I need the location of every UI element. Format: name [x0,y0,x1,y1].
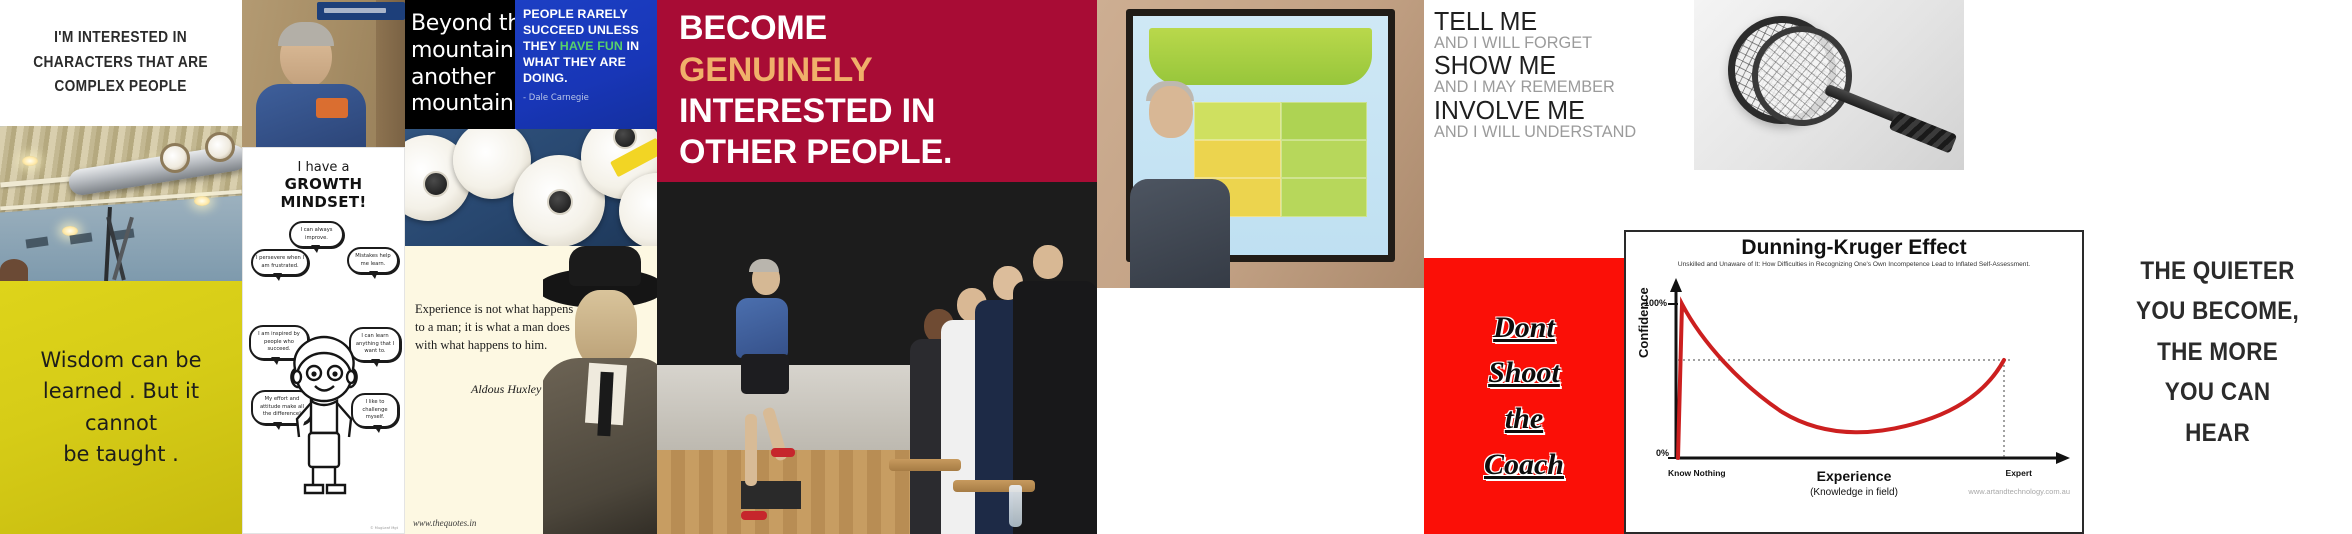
shuttle-cork [423,171,449,197]
wisdom-line-1: Wisdom can be [10,345,232,377]
growth-title-line-2: GROWTH MINDSET! [247,175,400,211]
chart-title: Dunning-Kruger Effect [1632,236,2076,259]
quieter-line-1: THE QUIETER [2136,251,2299,292]
growth-bubble: Mistakes help me learn. [347,247,399,274]
chart-plot-area: Confidence 100% 0% Know Nothing Expert E… [1632,272,2076,500]
panel-shuttlecocks-photo [405,129,657,246]
quieter-line-3: THE MORE [2136,332,2299,373]
coach-leg [745,414,757,486]
huxley-author: Aldous Huxley [471,382,541,397]
panel-sports-hall-photo [0,126,242,281]
tellme-line-6: AND I WILL UNDERSTAND [1434,123,1676,141]
slide-cell [1281,140,1367,178]
hat-crown [569,246,641,286]
chart-x-tick-right: Expert [2006,468,2032,478]
panel-characters-quote: I'M INTERESTED IN CHARACTERS THAT ARE CO… [0,0,242,126]
huxley-quote-text: Experience is not what happens to a man;… [415,301,575,354]
chart-svg [1632,272,2078,500]
image-collage: I'M INTERESTED IN CHARACTERS THAT ARE CO… [0,0,2352,534]
panel-become-interested-quote: BECOME GENUINELY INTERESTED IN OTHER PEO… [657,0,1097,182]
panel-coach-portrait-photo [242,0,405,147]
chart-curve [1678,304,2004,458]
characters-quote-text: I'M INTERESTED IN CHARACTERS THAT ARE CO… [27,26,215,100]
bench-seat [953,480,1035,492]
panel-wisdom-quote: Wisdom can be learned . But it cannot be… [0,281,242,534]
dontshoot-word-3: the [1484,396,1564,442]
quieter-line-5: HEAR [2136,413,2299,454]
shuttle-cork [547,189,573,215]
growth-kid-illustration [281,333,367,501]
player-head [1033,245,1063,279]
dontshoot-word-2: Shoot [1484,350,1564,396]
growth-bubble: I persevere when I am frustrated. [251,249,309,276]
characters-line-1: I'M INTERESTED IN [34,26,209,51]
chart-x-arrow [2056,452,2070,464]
coach-shoe [771,448,795,457]
panel-coach-presenting-photo [1097,0,1424,288]
growth-bubble-stage: I persevere when I am frustrated. I can … [247,215,400,515]
growth-title-line-1: I have a [247,160,400,175]
tellme-line-5: INVOLVE ME [1434,97,1676,123]
become-line-2: GENUINELY [679,50,952,91]
shirt-logo [316,98,348,118]
chart-y-tick-bottom: 0% [1656,448,1669,458]
coach-shirt [736,298,788,358]
water-bottle [1009,485,1022,527]
panel-dont-shoot-coach-quote: Dont Shoot the Coach [1424,258,1624,534]
panel-coach-squad-photo [657,182,1097,534]
quieter-line-2: YOU BECOME, [2136,291,2299,332]
tellme-line-3: SHOW ME [1434,52,1676,78]
coach-shorts [741,354,789,394]
person-head [0,259,28,281]
become-quote-text: BECOME GENUINELY INTERESTED IN OTHER PEO… [657,8,952,174]
panel-rackets-photo [1694,0,1964,170]
growth-credit: © MugLeaf Mgt [370,526,398,530]
wisdom-quote-text: Wisdom can be learned . But it cannot be… [0,345,242,471]
shuttlecock [205,132,235,162]
growth-bubble: I can always improve. [289,221,344,248]
dontshoot-text: Dont Shoot the Coach [1484,305,1564,487]
panel-dunning-kruger-chart: Dunning-Kruger Effect Unskilled and Unaw… [1624,230,2084,534]
chart-x-tick-left: Know Nothing [1668,468,1726,478]
chart-credit: www.artandtechnology.com.au [1968,487,2070,496]
chart-x-axis-label: Experience [1817,468,1892,484]
racket-grip [1889,110,1958,153]
slide-header-band [1149,28,1373,85]
coach-shoe [741,511,767,520]
characters-line-3: COMPLEX PEOPLE [34,75,209,100]
panel-carnegie-quote: PEOPLE RARELY SUCCEED UNLESS THEY HAVE F… [515,0,657,129]
chart-y-tick-top: 100% [1644,298,1667,308]
presenter-body [1130,179,1230,288]
slide-cell [1194,140,1280,178]
quieter-quote-text: THE QUIETER YOU BECOME, THE MORE YOU CAN… [2136,251,2299,454]
panel-tell-show-involve-quote: TELL ME AND I WILL FORGET SHOW ME AND I … [1424,0,1694,150]
shuttlecock [160,143,190,173]
become-line-3: INTERESTED IN [679,91,952,132]
chart-y-arrow [1670,278,1682,292]
panel-quieter-quote: THE QUIETER YOU BECOME, THE MORE YOU CAN… [2084,170,2352,534]
wisdom-line-2: learned . But it cannot [10,376,232,439]
chart-subtitle: Unskilled and Unaware of It: How Difficu… [1632,261,2076,270]
slide-cell [1194,102,1280,140]
carnegie-attribution: - Dale Carnegie [523,93,649,103]
presenter-head [1149,86,1193,138]
carnegie-quote-text: PEOPLE RARELY SUCCEED UNLESS THEY HAVE F… [523,7,649,86]
coach-shirt [256,84,366,147]
characters-line-2: CHARACTERS THAT ARE [34,51,209,76]
hall-light [194,196,210,206]
player-body [1013,281,1097,534]
huxley-portrait [543,246,657,534]
tellme-line-1: TELL ME [1434,8,1676,34]
slide-cell [1281,178,1367,216]
wall-banner [317,2,405,20]
become-line-1: BECOME [679,8,952,49]
carnegie-highlight: HAVE FUN [560,39,623,53]
huxley-source-url: www.thequotes.in [413,518,476,528]
bench-seat [889,459,961,471]
become-line-4: OTHER PEOPLE. [679,132,952,173]
panel-growth-mindset-poster: I have a GROWTH MINDSET! I persevere whe… [242,147,405,534]
doorway [376,0,405,147]
chart-x-axis-sublabel: (Knowledge in field) [1810,487,1898,498]
dontshoot-word-4: Coach [1484,442,1564,488]
quieter-line-4: YOU CAN [2136,372,2299,413]
wisdom-line-3: be taught . [10,439,232,471]
dontshoot-word-1: Dont [1484,305,1564,351]
hall-light [22,156,38,166]
panel-huxley-quote: Experience is not what happens to a man;… [405,246,657,534]
slide-cell [1281,102,1367,140]
